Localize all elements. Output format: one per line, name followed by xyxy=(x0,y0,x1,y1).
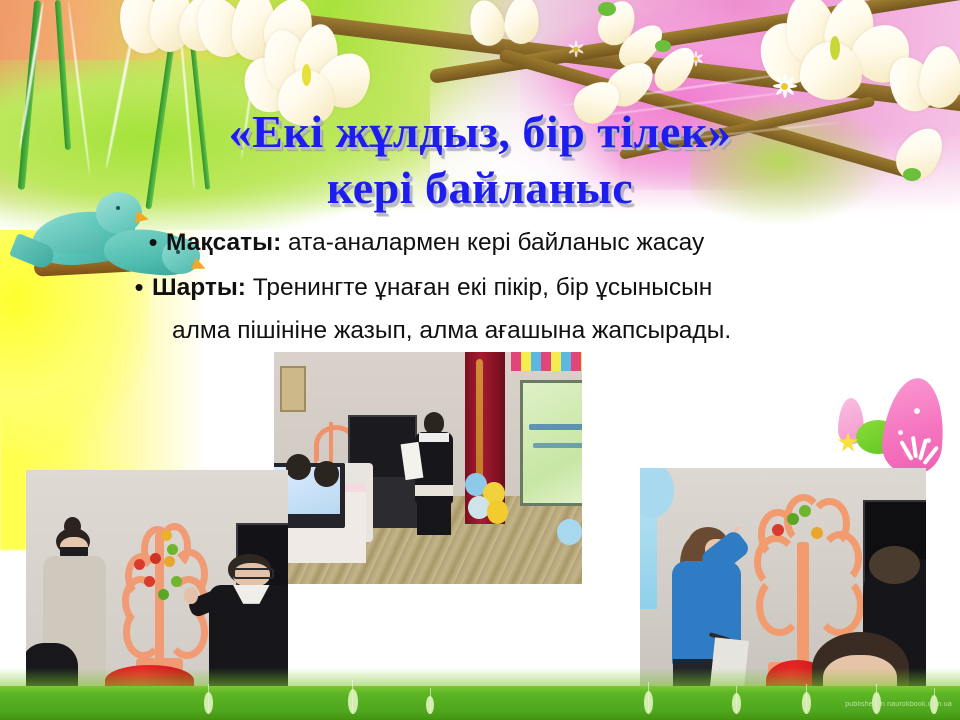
head xyxy=(869,546,920,585)
grass-bud-icon xyxy=(802,692,811,714)
grass-bud-icon xyxy=(732,693,741,714)
bullet-text-2: Шарты: Тренингте ұнаған екі пікір, бір ұ… xyxy=(152,269,712,306)
party-bunting xyxy=(511,352,582,371)
bullet-continuation-2: алма пішініне жазып, алма ағашына жапсыр… xyxy=(120,312,880,349)
tree-branch-curl xyxy=(815,575,864,636)
apple-icon xyxy=(144,576,155,587)
screen-text-line xyxy=(533,443,582,448)
left-apple-tree-photo xyxy=(26,470,288,692)
daisy-icon xyxy=(689,51,699,61)
grass-bud-icon xyxy=(426,696,434,714)
bullet-list: • Мақсаты: ата-аналармен кері байланыс ж… xyxy=(120,224,880,349)
presenter-collar xyxy=(419,433,448,441)
seated-person-head xyxy=(314,461,339,487)
apple-icon xyxy=(171,576,182,587)
glasses-icon xyxy=(233,568,274,579)
balloon-icon xyxy=(557,519,582,545)
flower-icon xyxy=(760,0,910,114)
bullet-label-2: Шарты: xyxy=(152,274,246,301)
bullet-item-2: • Шарты: Тренингте ұнаған екі пікір, бір… xyxy=(120,269,880,306)
bullet-marker: • xyxy=(140,224,166,260)
center-presentation-photo xyxy=(274,352,582,584)
bird-eye-icon xyxy=(116,206,120,210)
wall-picture-frame xyxy=(280,366,306,412)
daisy-icon xyxy=(774,74,796,96)
grass-bud-icon xyxy=(348,689,358,714)
hand xyxy=(732,526,740,534)
tree-branch-curl xyxy=(123,605,164,658)
grass-bud-icon xyxy=(644,691,653,714)
bullet-body-1: ата-аналармен кері байланыс жасау xyxy=(281,229,704,256)
daisy-icon xyxy=(568,40,579,51)
presenter-skirt xyxy=(417,496,451,535)
presenter-person xyxy=(413,412,456,551)
projector-screen xyxy=(520,380,582,507)
screen-text-line xyxy=(529,424,582,430)
grass-bud-icon xyxy=(204,692,213,714)
apple-icon xyxy=(150,553,161,564)
slide-canvas: «Екі жұлдыз, бір тілек» кері байланыс • … xyxy=(0,0,960,720)
bottom-green-bar: published in naurokbook.com.ua xyxy=(0,686,960,720)
calyx-icon xyxy=(655,40,671,52)
bullet-item-1: • Мақсаты: ата-аналармен кері байланыс ж… xyxy=(120,224,880,261)
bullet-marker: • xyxy=(126,269,152,305)
watermark-text: published in naurokbook.com.ua xyxy=(845,701,952,708)
bullet-label-1: Мақсаты: xyxy=(166,229,281,256)
presenter-belt xyxy=(415,485,453,496)
seated-person-head xyxy=(286,454,311,480)
title-line-1: «Екі жұлдыз, бір тілек» xyxy=(229,106,732,157)
balloon-icon xyxy=(487,500,509,523)
apple-icon xyxy=(161,530,172,541)
dot-icon xyxy=(914,408,920,414)
apple-icon xyxy=(158,589,169,600)
calyx-icon xyxy=(598,2,616,16)
apple-icon xyxy=(811,527,823,539)
bullet-text-1: Мақсаты: ата-аналармен кері байланыс жас… xyxy=(166,224,704,261)
hand xyxy=(184,587,197,604)
apple-tree-prop xyxy=(120,503,199,667)
apple-icon xyxy=(772,524,784,536)
white-spray-icon xyxy=(894,430,934,464)
right-apple-tree-photo xyxy=(640,468,926,696)
bullet-body-2: Тренингте ұнаған екі пікір, бір ұсынысын xyxy=(246,274,712,301)
